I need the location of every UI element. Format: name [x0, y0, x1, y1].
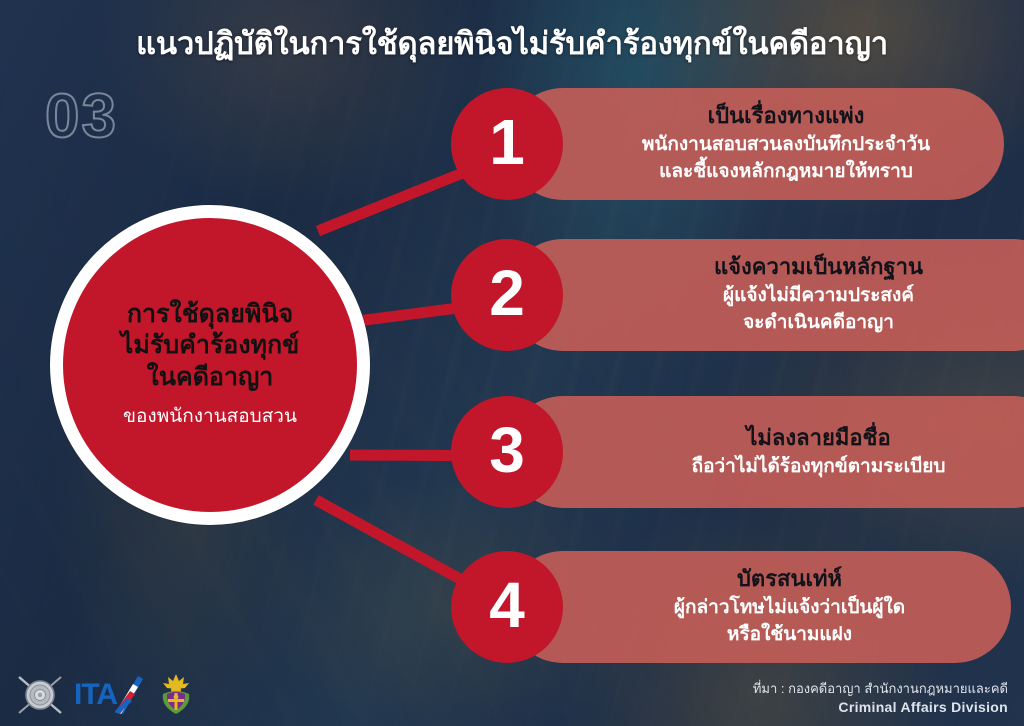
item-heading: แจ้งความเป็นหลักฐาน — [714, 254, 923, 280]
item-body-line-2: จะดำเนินคดีอาญา — [743, 311, 894, 335]
item-number-label: 2 — [489, 261, 525, 325]
thai-flag-swoosh-icon — [112, 674, 146, 716]
item-number-circle: 1 — [451, 88, 563, 200]
item-number-circle: 2 — [451, 239, 563, 351]
footer-source-english: Criminal Affairs Division — [753, 698, 1008, 718]
item-number-circle: 4 — [451, 551, 563, 663]
royal-crest-logo — [156, 672, 196, 718]
police-emblem-logo — [16, 672, 64, 718]
ita-wordmark: ITA — [74, 680, 117, 710]
item-body-line-1: ผู้กล่าวโทษไม่แจ้งว่าเป็นผู้ใด — [674, 596, 905, 620]
item-text-block: เป็นเรื่องทางแพ่ง พนักงานสอบสวนลงบันทึกป… — [571, 88, 1001, 200]
footer-source-thai: ที่มา : กองคดีอาญา สำนักงานกฎหมายและคดี — [753, 680, 1008, 698]
hub-subtitle: ของพนักงานสอบสวน — [123, 401, 297, 431]
item-heading: ไม่ลงลายมือชื่อ — [746, 425, 890, 451]
item-body-line-1: พนักงานสอบสวนลงบันทึกประจำวัน — [642, 133, 930, 157]
item-heading: บัตรสนเท่ห์ — [737, 566, 842, 592]
item-number-label: 4 — [489, 573, 525, 637]
item-text-block: ไม่ลงลายมือชื่อ ถือว่าไม่ได้ร้องทุกข์ตาม… — [571, 396, 1024, 508]
ita-logo: ITA — [74, 674, 146, 716]
item-number-label: 3 — [489, 418, 525, 482]
footer-source: ที่มา : กองคดีอาญา สำนักงานกฎหมายและคดี … — [753, 680, 1008, 718]
item-number-circle: 3 — [451, 396, 563, 508]
item-heading: เป็นเรื่องทางแพ่ง — [708, 103, 865, 129]
item-number-label: 1 — [489, 110, 525, 174]
hub-line-3: ในคดีอาญา — [147, 362, 274, 394]
item-text-block: แจ้งความเป็นหลักฐาน ผู้แจ้งไม่มีความประส… — [571, 239, 1024, 351]
hub-line-2: ไม่รับคำร้องทุกข์ — [121, 330, 299, 362]
item-body-line-1: ผู้แจ้งไม่มีความประสงค์ — [723, 284, 914, 308]
item-body-line-2: หรือใช้นามแฝง — [727, 623, 852, 647]
hub-line-1: การใช้ดุลยพินิจ — [127, 299, 293, 331]
item-text-block: บัตรสนเท่ห์ ผู้กล่าวโทษไม่แจ้งว่าเป็นผู้… — [571, 551, 1008, 663]
royal-crest-icon — [156, 672, 196, 718]
police-emblem-icon — [16, 672, 64, 718]
central-hub-circle: การใช้ดุลยพินิจ ไม่รับคำร้องทุกข์ ในคดีอ… — [50, 205, 370, 525]
item-body-line-2: และชี้แจงหลักกฎหมายให้ทราบ — [659, 160, 913, 184]
logo-group: ITA — [16, 672, 196, 718]
item-body-line-1: ถือว่าไม่ได้ร้องทุกข์ตามระเบียบ — [692, 455, 946, 479]
